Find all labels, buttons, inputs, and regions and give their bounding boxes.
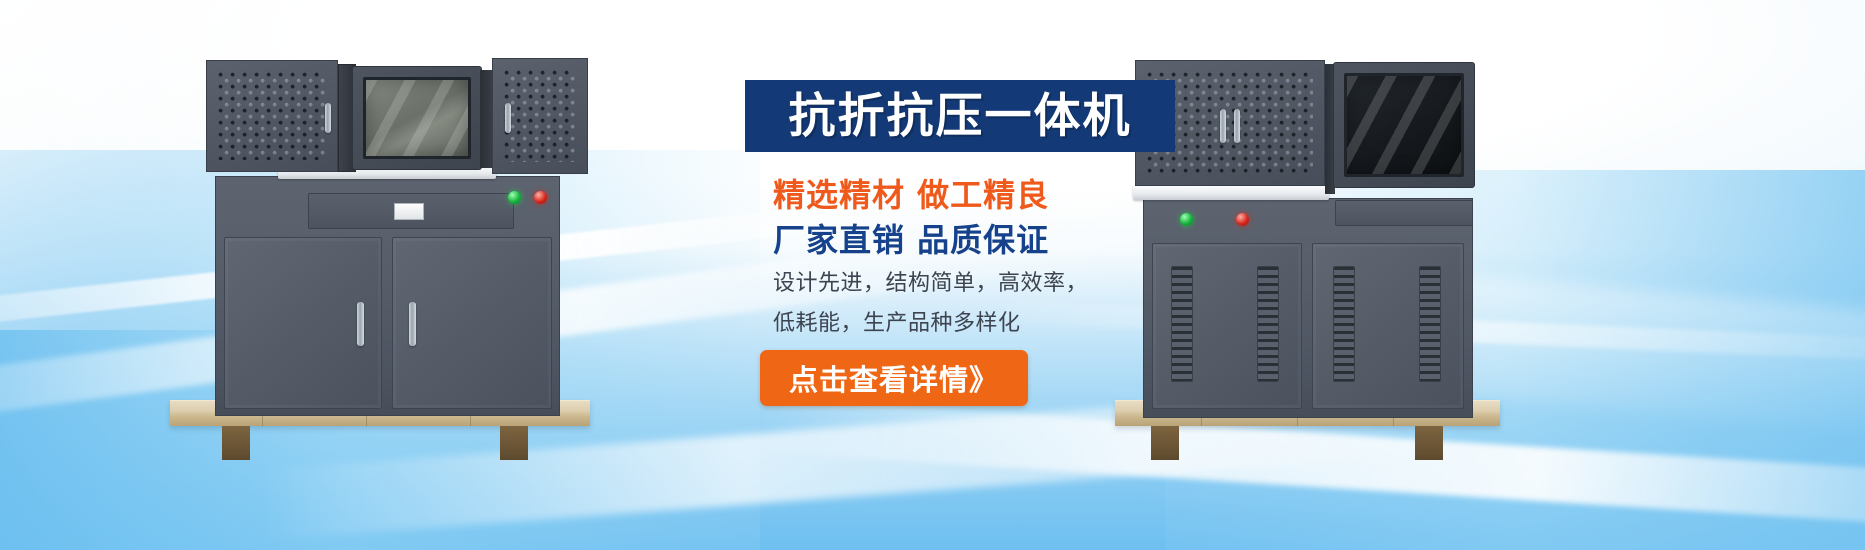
perforated-cabinet-left-1 bbox=[206, 60, 338, 172]
product-photo-right bbox=[1115, 48, 1595, 468]
perforated-panel-texture bbox=[504, 70, 576, 162]
green-indicator-light bbox=[508, 191, 521, 204]
door-handle-icon bbox=[325, 103, 331, 133]
cabinet-door-right-1 bbox=[1152, 243, 1302, 409]
door-handle-icon bbox=[357, 302, 364, 346]
promo-banner: 抗折抗压一体机 精选精材 做工精良 厂家直销 品质保证 设计先进，结构简单，高效… bbox=[0, 0, 1865, 550]
product-photo-left bbox=[170, 48, 690, 468]
machine-trim-strip-right bbox=[1133, 186, 1329, 200]
cabinet-door-left-2 bbox=[392, 237, 552, 409]
cabinet-door-right-2 bbox=[1312, 243, 1464, 409]
red-indicator-light bbox=[534, 191, 547, 204]
perforated-cabinet-left-2 bbox=[492, 58, 588, 174]
perforated-panel-texture bbox=[218, 72, 326, 160]
machine-body-right bbox=[1143, 198, 1473, 418]
display-module-left bbox=[352, 66, 482, 170]
ventilation-slots bbox=[1171, 266, 1193, 382]
control-drawer-right bbox=[1335, 200, 1473, 226]
display-screen-right bbox=[1344, 73, 1464, 177]
door-handle-icon bbox=[409, 302, 416, 346]
headline-bar: 抗折抗压一体机 bbox=[745, 80, 1175, 152]
cabinet-door-left-1 bbox=[224, 237, 382, 409]
ventilation-slots bbox=[1419, 266, 1441, 382]
description-line-2: 低耗能，生产品种多样化 bbox=[773, 305, 1021, 337]
ventilation-slots bbox=[1333, 266, 1355, 382]
door-handle-icon bbox=[1220, 109, 1226, 143]
machine-body-left bbox=[215, 176, 560, 416]
ventilation-slots bbox=[1257, 266, 1279, 382]
display-module-right bbox=[1333, 62, 1475, 188]
green-indicator-light bbox=[1180, 213, 1193, 226]
view-details-button[interactable]: 点击查看详情》 bbox=[760, 350, 1028, 406]
page-title: 抗折抗压一体机 bbox=[789, 93, 1132, 140]
display-screen-left bbox=[363, 77, 471, 159]
door-handle-icon bbox=[1234, 109, 1240, 143]
control-label-left bbox=[394, 203, 424, 220]
tagline-primary: 精选精材 做工精良 bbox=[773, 170, 1049, 216]
description-line-1: 设计先进，结构简单，高效率， bbox=[773, 265, 1088, 297]
tagline-secondary: 厂家直销 品质保证 bbox=[773, 215, 1049, 261]
red-indicator-light bbox=[1236, 213, 1249, 226]
door-handle-icon bbox=[505, 103, 511, 133]
